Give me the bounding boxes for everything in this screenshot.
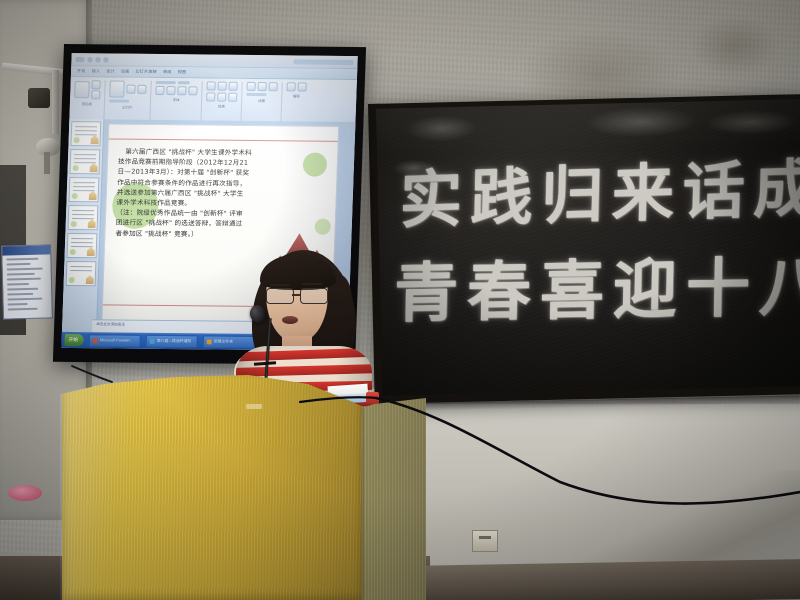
tab-insert[interactable]: 插入 (92, 68, 101, 74)
layout-icon[interactable] (126, 85, 135, 94)
podium-red-box (366, 392, 379, 404)
taskbar-item-word[interactable]: 第六届—挑战杯通知 (146, 334, 198, 348)
numbering-icon[interactable] (217, 82, 226, 91)
ribbon-group-font[interactable]: 字体 (154, 81, 203, 125)
wall-notice-poster (1, 244, 53, 319)
ribbon-group-label: 幻灯片 (109, 104, 146, 109)
lectern-front-panel (62, 372, 362, 600)
lens-left (266, 288, 294, 304)
ceiling-pipe-vertical (52, 70, 59, 134)
shape-icon[interactable] (246, 82, 255, 91)
taskbar-item-label: 新建文件夹 (214, 339, 233, 344)
bullets-icon[interactable] (206, 81, 215, 90)
slide-rule-top (109, 138, 338, 141)
classroom-photo-scene: 实践归来话成就 青春喜迎十八大 开始 插入 设计 动画 幻灯片放映 审阅 (0, 0, 800, 600)
taskbar-item-label: 第六届—挑战杯通知 (157, 338, 191, 343)
powerpoint-icon (93, 338, 98, 343)
cut-icon[interactable] (91, 80, 100, 89)
start-button-label: 开始 (69, 337, 78, 343)
underline-icon[interactable] (177, 86, 186, 95)
ribbon-group-label: 绘图 (246, 98, 277, 103)
tab-design[interactable]: 设计 (106, 68, 115, 74)
tab-slideshow[interactable]: 幻灯片放映 (135, 69, 157, 75)
ribbon-group-label: 剪贴板 (74, 101, 100, 106)
bold-icon[interactable] (155, 86, 164, 95)
lens-right (300, 288, 328, 304)
ribbon-group-clipboard[interactable]: 剪贴板 (73, 80, 106, 124)
copy-icon[interactable] (91, 90, 100, 99)
floor-strip (404, 559, 800, 600)
ribbon-group-editing[interactable]: 编辑 (285, 82, 311, 126)
eyeglasses (266, 288, 328, 303)
start-button[interactable]: 开始 (64, 334, 84, 346)
ribbon-group-drawing[interactable]: 绘图 (245, 82, 283, 126)
folder-icon (207, 339, 212, 344)
ribbon-group-label: 编辑 (286, 93, 306, 98)
blackboard: 实践归来话成就 青春喜迎十八大 (368, 94, 800, 404)
wall-mount-bracket (28, 88, 50, 108)
blackboard-surface: 实践归来话成就 青春喜迎十八大 (376, 99, 800, 396)
align-right-icon[interactable] (228, 93, 237, 102)
align-center-icon[interactable] (217, 93, 226, 102)
new-slide-icon[interactable] (109, 80, 125, 97)
pink-object-on-floor (8, 485, 42, 501)
taskbar-item-powerpoint[interactable]: Microsoft PowerP... (89, 334, 141, 348)
italic-icon[interactable] (166, 86, 175, 95)
glasses-bridge (292, 294, 301, 296)
notice-text-lines (2, 254, 52, 316)
shadow-icon[interactable] (188, 86, 197, 95)
replace-icon[interactable] (297, 82, 306, 91)
wall-lamp-stem (44, 152, 50, 174)
blackboard-vignette (376, 99, 800, 396)
word-icon (150, 338, 155, 343)
lectern-emblem (246, 404, 262, 409)
slide-body-text[interactable]: 第六届广西区 "挑战杯" 大学生课外学术科 技作品竞赛前期指导阶段（2012年1… (115, 147, 331, 241)
indent-icon[interactable] (228, 82, 237, 91)
slide-thumbnail[interactable] (66, 261, 97, 286)
eyebrow-left (270, 284, 290, 286)
taskbar-item-label: Microsoft PowerP... (100, 338, 133, 342)
ribbon-group-label: 段落 (206, 103, 237, 108)
wall-outlet-icon (472, 530, 498, 552)
find-icon[interactable] (286, 82, 295, 91)
slide-thumbnail[interactable] (67, 233, 98, 258)
slide-thumbnail[interactable] (68, 177, 99, 202)
tab-view[interactable]: 视图 (178, 69, 187, 75)
ribbon-group-label: 字体 (155, 97, 197, 102)
tab-home[interactable]: 开始 (77, 68, 86, 74)
eyebrow-right (302, 283, 322, 285)
quick-styles-icon[interactable] (268, 82, 277, 91)
arrange-icon[interactable] (257, 82, 266, 91)
slide-line: 者参加区 "挑战杯" 竞赛。） (115, 228, 328, 240)
ribbon-group-slides[interactable]: 幻灯片 (108, 80, 152, 124)
tab-review[interactable]: 审阅 (163, 69, 172, 75)
ribbon-group-paragraph[interactable]: 段落 (205, 81, 243, 125)
align-left-icon[interactable] (206, 92, 215, 101)
reset-icon[interactable] (137, 85, 146, 94)
slide-thumbnail[interactable] (68, 205, 99, 230)
mouth (282, 316, 298, 324)
slide-thumbnail[interactable] (69, 149, 100, 174)
tab-animations[interactable]: 动画 (121, 69, 130, 75)
paste-icon[interactable] (74, 81, 90, 98)
slide-thumbnail[interactable] (70, 121, 101, 146)
